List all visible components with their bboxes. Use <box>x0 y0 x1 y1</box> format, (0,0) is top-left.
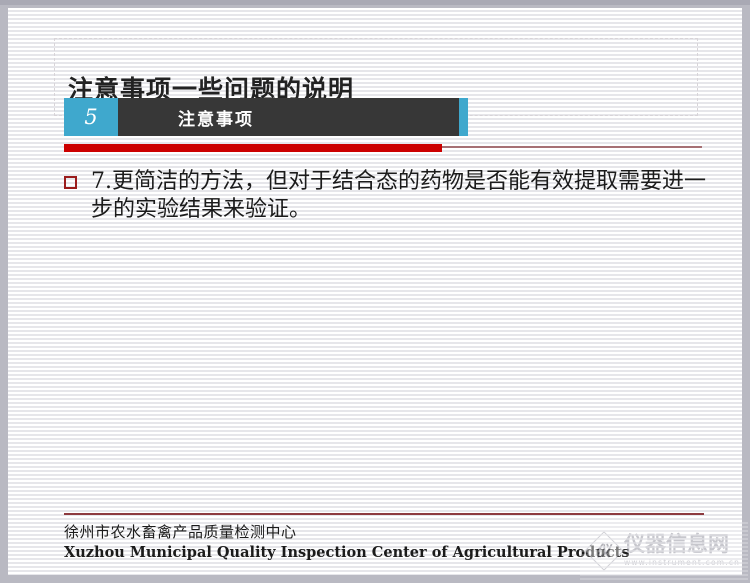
section-header-accent-tail <box>459 98 468 136</box>
square-bullet-icon <box>64 176 77 189</box>
section-title-bar: 注意事项 <box>118 98 459 136</box>
footer-divider <box>64 513 704 515</box>
body-bullet-row: 7.更简洁的方法，但对于结合态的药物是否能有效提取需要进一步的实验结果来验证。 <box>64 168 712 224</box>
header-rule-thick <box>64 144 442 152</box>
section-number-badge: 5 <box>64 98 118 136</box>
clipped-title-text: 注意事项一些问题的说明 <box>68 70 448 98</box>
body-bullet-text: 7.更简洁的方法，但对于结合态的药物是否能有效提取需要进一步的实验结果来验证。 <box>91 168 712 224</box>
footer-organization-cn: 徐州市农水畜禽产品质量检测中心 <box>64 521 297 542</box>
section-header-band: 5 注意事项 <box>64 98 468 136</box>
section-title-text: 注意事项 <box>178 105 254 130</box>
presentation-page: 注意事项一些问题的说明 5 注意事项 7.更简洁的方法，但对于结合态的药物是否能… <box>0 0 750 583</box>
slide-canvas: 注意事项一些问题的说明 5 注意事项 7.更简洁的方法，但对于结合态的药物是否能… <box>8 8 742 575</box>
footer-organization-en: Xuzhou Municipal Quality Inspection Cent… <box>64 544 630 561</box>
